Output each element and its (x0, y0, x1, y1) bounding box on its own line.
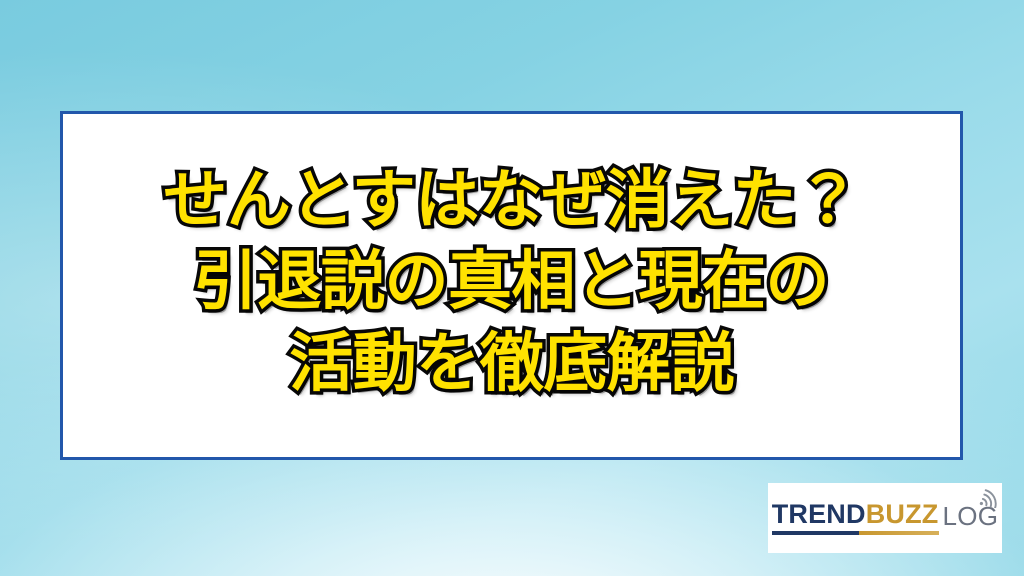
title-line-3: 活動を徹底解説 (63, 324, 960, 406)
logo-text-trend: TREND (772, 501, 866, 528)
logo-underline-bar (772, 531, 939, 535)
title-card: せんとすはなぜ消えた？ 引退説の真相と現在の 活動を徹底解説 (60, 111, 963, 460)
brand-logo[interactable]: TREND BUZZ LOG (768, 483, 1002, 553)
logo-inner: TREND BUZZ LOG (768, 501, 1003, 535)
title-line-1: せんとすはなぜ消えた？ (63, 161, 960, 243)
logo-wordmark: TREND BUZZ (772, 501, 939, 535)
title-text-block: せんとすはなぜ消えた？ 引退説の真相と現在の 活動を徹底解説 (63, 161, 960, 411)
title-line-2: 引退説の真相と現在の (63, 243, 960, 325)
thumbnail-canvas: せんとすはなぜ消えた？ 引退説の真相と現在の 活動を徹底解説 TREND BUZ… (0, 0, 1024, 576)
logo-words: TREND BUZZ (772, 501, 939, 528)
logo-text-buzz: BUZZ (866, 501, 939, 528)
signal-waves-icon (976, 486, 1002, 508)
logo-log-wrap: LOG (943, 503, 999, 535)
